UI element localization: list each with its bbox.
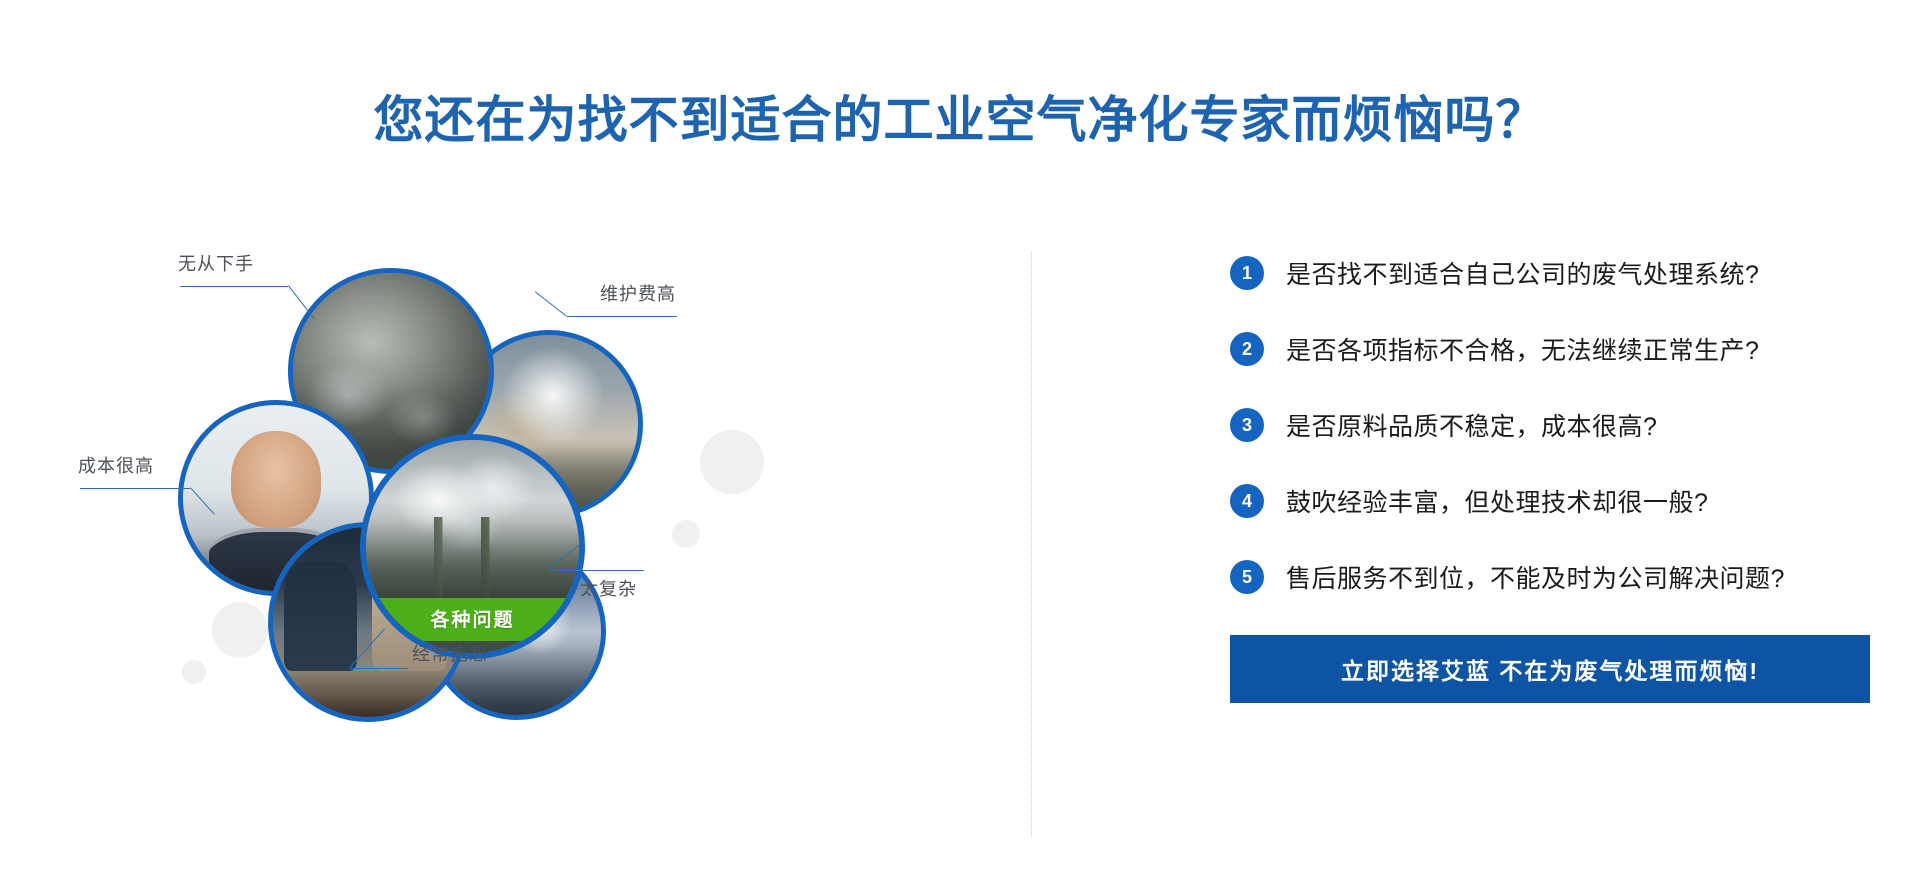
list-item-label: 是否原料品质不稳定，成本很高? (1286, 407, 1657, 443)
leader-line (80, 488, 190, 489)
callout-label-left: 成本很高 (78, 452, 154, 478)
list-item: 4 鼓吹经验丰富，但处理技术却很一般? (1230, 483, 1870, 519)
leader-line (567, 316, 677, 317)
list-item: 1 是否找不到适合自己公司的废气处理系统? (1230, 255, 1870, 291)
list-item-label: 是否各项指标不合格，无法继续正常生产? (1286, 331, 1759, 367)
list-item: 2 是否各项指标不合格，无法继续正常生产? (1230, 331, 1870, 367)
promo-banner: 您还在为找不到适合的工业空气净化专家而烦恼吗？ 各种问题 (0, 0, 1920, 875)
problem-diagram: 各种问题 无从下手 维护费高 成本很高 太复杂 经常抱怨 (0, 230, 1020, 870)
decorative-bubble (672, 520, 700, 548)
leader-line (548, 570, 644, 571)
leader-line-diagonal (535, 291, 567, 316)
decorative-bubble (700, 430, 764, 494)
question-list: 1 是否找不到适合自己公司的废气处理系统? 2 是否各项指标不合格，无法继续正常… (1230, 255, 1870, 703)
column-divider (1031, 252, 1032, 837)
decorative-bubble (212, 602, 268, 658)
list-item-label: 售后服务不到位，不能及时为公司解决问题? (1286, 559, 1785, 595)
decorative-bubble (182, 660, 206, 684)
list-item-label: 是否找不到适合自己公司的废气处理系统? (1286, 255, 1759, 291)
cta-button[interactable]: 立即选择艾蓝 不在为废气处理而烦恼! (1230, 635, 1870, 703)
list-item-label: 鼓吹经验丰富，但处理技术却很一般? (1286, 483, 1708, 519)
leader-line (180, 286, 288, 287)
list-item-number: 1 (1230, 256, 1264, 290)
callout-label-top-left: 无从下手 (178, 250, 254, 276)
list-item-number: 2 (1230, 332, 1264, 366)
center-badge: 各种问题 (366, 598, 579, 641)
photo-circle-smokestacks: 各种问题 (360, 434, 585, 659)
page-title: 您还在为找不到适合的工业空气净化专家而烦恼吗？ (0, 92, 1920, 150)
list-item-number: 3 (1230, 408, 1264, 442)
list-item-number: 4 (1230, 484, 1264, 518)
list-item: 3 是否原料品质不稳定，成本很高? (1230, 407, 1870, 443)
list-item: 5 售后服务不到位，不能及时为公司解决问题? (1230, 559, 1870, 595)
callout-label-bottom-left: 经常抱怨 (412, 640, 488, 666)
callout-label-top-right: 维护费高 (600, 280, 676, 306)
callout-label-bottom-right: 太复杂 (580, 575, 637, 601)
list-item-number: 5 (1230, 560, 1264, 594)
leader-line (350, 668, 408, 669)
